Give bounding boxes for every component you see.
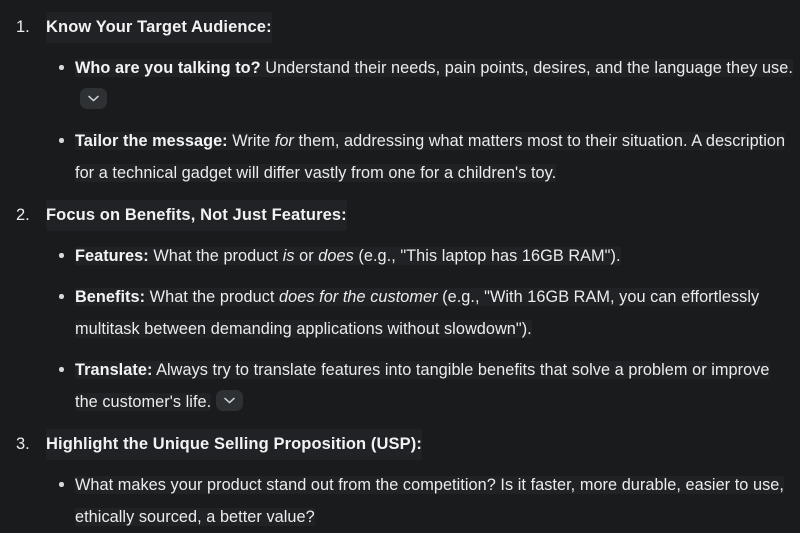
sub-bullet-list: Who are you talking to? Understand their… [46, 52, 796, 189]
bullet-body-part: Write [228, 132, 275, 150]
bullet-dot-icon [59, 253, 64, 258]
bullet-body-part: What the product [145, 288, 279, 306]
list-item: Features: What the product is or does (e… [46, 240, 796, 272]
chevron-down-icon[interactable] [216, 390, 243, 411]
bullet-emphasis-text: does [318, 247, 354, 265]
list-item: Who are you talking to? Understand their… [46, 52, 796, 116]
bullet-dot-icon [59, 65, 64, 70]
list-marker-number: 2. [16, 200, 42, 231]
bullet-paragraph: Features: What the product is or does (e… [75, 240, 796, 272]
bullet-emphasis-text: does for the customer [279, 288, 438, 306]
bullet-paragraph: What makes your product stand out from t… [75, 469, 796, 533]
list-marker-number: 1. [16, 12, 42, 43]
bullet-lead-text: Benefits: [75, 288, 145, 306]
list-item: Tailor the message: Write for them, addr… [46, 125, 796, 189]
bullet-body-text: Always try to translate features into ta… [75, 361, 770, 411]
section-heading: Focus on Benefits, Not Just Features: [46, 200, 347, 231]
bullet-paragraph: Tailor the message: Write for them, addr… [75, 125, 796, 189]
bullet-body-part: What the product [149, 247, 283, 265]
bullet-body-text: Understand their needs, pain points, des… [261, 59, 793, 77]
bullet-emphasis-text: for [275, 132, 294, 150]
bullet-dot-icon [59, 138, 64, 143]
bullet-lead-text: Tailor the message: [75, 132, 228, 150]
list-item: 2. Focus on Benefits, Not Just Features:… [0, 200, 796, 418]
bullet-body-part: or [295, 247, 319, 265]
bullet-paragraph: Benefits: What the product does for the … [75, 281, 796, 345]
sub-bullet-list: What makes your product stand out from t… [46, 469, 796, 533]
bullet-body-part: (e.g., "This laptop has 16GB RAM"). [354, 247, 621, 265]
list-item: 1. Know Your Target Audience: Who are yo… [0, 12, 796, 189]
list-item: What makes your product stand out from t… [46, 469, 796, 533]
sub-bullet-list: Features: What the product is or does (e… [46, 240, 796, 418]
chevron-down-icon[interactable] [80, 88, 107, 109]
bullet-dot-icon [59, 367, 64, 372]
bullet-body-text: What makes your product stand out from t… [75, 476, 784, 526]
section-heading: Highlight the Unique Selling Proposition… [46, 429, 422, 460]
bullet-emphasis-text: is [283, 247, 295, 265]
bullet-lead-text: Translate: [75, 361, 152, 379]
list-marker-number: 3. [16, 429, 42, 460]
bullet-paragraph: Who are you talking to? Understand their… [75, 52, 796, 116]
numbered-outline-list: 1. Know Your Target Audience: Who are yo… [0, 12, 796, 533]
bullet-paragraph: Translate: Always try to translate featu… [75, 354, 796, 418]
bullet-lead-text: Features: [75, 247, 149, 265]
bullet-dot-icon [59, 294, 64, 299]
list-item: 3. Highlight the Unique Selling Proposit… [0, 429, 796, 533]
list-item: Translate: Always try to translate featu… [46, 354, 796, 418]
bullet-dot-icon [59, 482, 64, 487]
answer-content-pane: 1. Know Your Target Audience: Who are yo… [0, 0, 800, 522]
list-item: Benefits: What the product does for the … [46, 281, 796, 345]
bullet-lead-text: Who are you talking to? [75, 59, 261, 77]
section-heading: Know Your Target Audience: [46, 12, 272, 43]
